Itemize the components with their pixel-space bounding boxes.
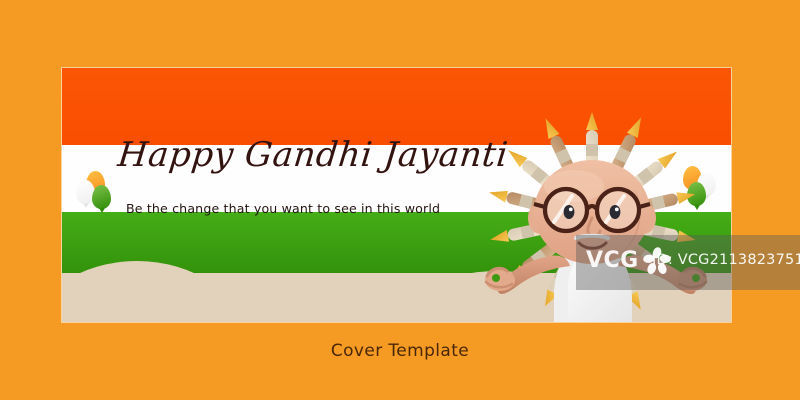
flag-banner (62, 68, 731, 322)
balloon-green-icon (92, 185, 111, 209)
cover-template-caption: Cover Template (0, 341, 800, 361)
cover-template-canvas: Happy Gandhi Jayanti Be the change that … (0, 0, 800, 400)
greeting-headline: Happy Gandhi Jayanti (116, 136, 450, 174)
gandhi-illustration (442, 68, 731, 322)
greeting-subtitle: Be the change that you want to see in th… (126, 201, 466, 216)
tricolor-balloon-cluster-left (76, 171, 122, 215)
gandhi-mustache (576, 236, 608, 238)
